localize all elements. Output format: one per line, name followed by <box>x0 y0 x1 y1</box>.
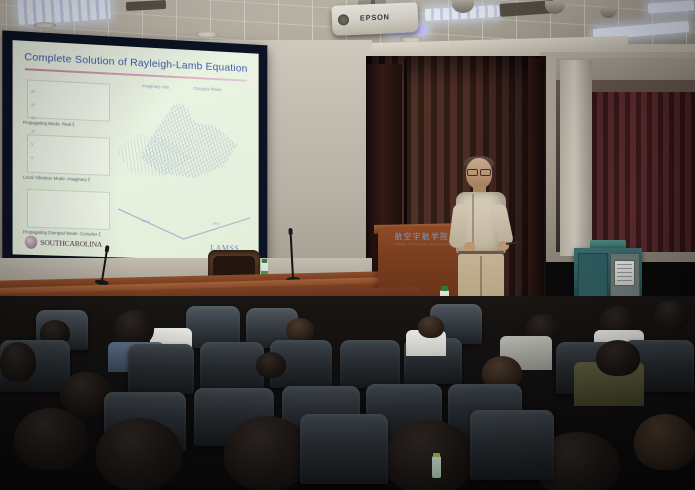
laser-pointer <box>506 241 522 245</box>
recessed-light-icon <box>34 22 56 29</box>
bottle-cap <box>262 259 267 263</box>
slide-3d-plot: Re ξ Im ξ <box>110 90 256 245</box>
audience-head <box>96 418 182 490</box>
university-logo: SOUTHCAROLINA <box>25 235 102 250</box>
slide-tick: 20 <box>31 103 35 107</box>
projector-lens-icon <box>338 14 349 25</box>
audience-head <box>224 416 310 490</box>
seat <box>470 410 554 480</box>
audience-head <box>418 316 444 338</box>
slide-tick: 10 <box>31 129 35 133</box>
university-logo-label: SOUTHCAROLINA <box>40 238 102 249</box>
audience-head <box>654 300 688 330</box>
slide-mode-box <box>27 79 110 121</box>
slide-title: Complete Solution of Rayleigh-Lamb Equat… <box>13 50 259 75</box>
seat <box>340 340 400 388</box>
projection-screen-frame: Complete Solution of Rayleigh-Lamb Equat… <box>2 30 267 271</box>
wall-column <box>560 60 592 256</box>
slide-axis-label: Re ξ <box>142 219 150 223</box>
cabinet-door <box>578 253 608 301</box>
slide-plot-header: Complex Plane <box>193 86 221 92</box>
presenter-hand-left <box>464 242 475 251</box>
audience-head <box>384 420 474 490</box>
stage-backdrop-edge <box>528 58 544 304</box>
seat <box>300 414 388 484</box>
slide-axis-label: Im ξ <box>213 222 220 226</box>
recessed-light-icon <box>196 31 218 38</box>
slide-tick: 0 <box>31 156 35 160</box>
slide-tick: 15 <box>31 116 35 120</box>
lecture-hall-photo: EPSON Complete Solution of Rayleigh-Lamb… <box>0 0 695 490</box>
microphone-head-icon <box>288 228 292 235</box>
slide-tick: 25 <box>31 90 35 94</box>
slide-mode-label: Local Vibration Mode: Imaginary ξ <box>23 175 90 183</box>
projector: EPSON <box>331 2 418 36</box>
projector-brand-label: EPSON <box>360 12 390 22</box>
audience-head <box>286 318 314 342</box>
framed-notice <box>614 260 635 286</box>
slide-axis <box>118 208 184 239</box>
slide-plot-header: Imaginary Axis <box>142 83 169 89</box>
projection-screen: Complete Solution of Rayleigh-Lamb Equat… <box>13 40 259 261</box>
seat <box>128 344 194 394</box>
water-bottle <box>432 456 441 478</box>
audience-head <box>596 340 640 376</box>
right-curtain <box>592 92 695 252</box>
audience-head <box>634 414 695 470</box>
bottle-cap <box>433 453 440 457</box>
glasses-icon <box>467 169 491 174</box>
slide-axis-ticks: 25 20 15 10 5 0 <box>31 90 35 169</box>
audience-head <box>114 310 154 346</box>
audience-head <box>14 408 88 470</box>
seat <box>200 342 264 392</box>
audience-head <box>0 342 36 382</box>
audience-area <box>0 296 695 490</box>
slide-mode-box <box>27 134 110 176</box>
slide-tick: 5 <box>31 142 35 146</box>
crest-icon <box>25 235 37 249</box>
slide-mode-box <box>27 189 110 230</box>
audience-head <box>256 352 286 378</box>
